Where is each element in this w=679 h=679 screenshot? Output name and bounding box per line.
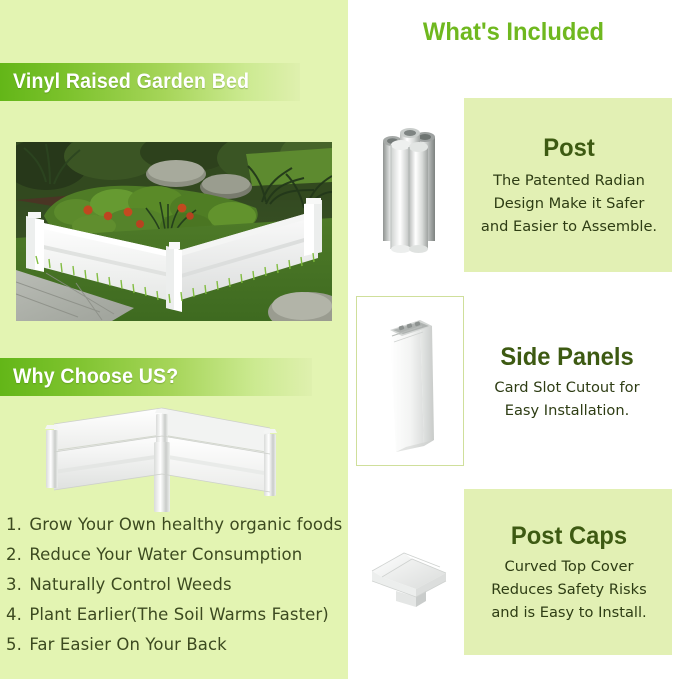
- bed-frame-illustration: [28, 402, 290, 514]
- garden-bed-photo-illustration: [16, 142, 332, 321]
- post-desc-line-1: The Patented Radian: [470, 169, 668, 192]
- hero-product-photo: [16, 142, 332, 321]
- post-card-body: Post The Patented Radian Design Make it …: [464, 98, 672, 272]
- empty-bed-frame-drawing: [28, 402, 290, 514]
- why-choose-us-banner: Why Choose US?: [0, 358, 312, 396]
- included-card-post: Post The Patented Radian Design Make it …: [356, 98, 672, 272]
- list-item: 1. Grow Your Own healthy organic foods: [6, 510, 348, 540]
- list-item-text: Naturally Control Weeds: [29, 575, 231, 594]
- why-choose-us-text: Why Choose US?: [0, 365, 178, 389]
- included-card-post-caps: Post Caps Curved Top Cover Reduces Safet…: [356, 489, 672, 655]
- left-panel: Vinyl Raised Garden Bed: [0, 0, 348, 679]
- page-title: What's Included: [356, 18, 670, 47]
- list-item-number: 3.: [6, 575, 22, 594]
- side-panels-card-body: Side Panels Card Slot Cutout for Easy In…: [464, 296, 672, 466]
- infographic-page: Vinyl Raised Garden Bed: [0, 0, 679, 679]
- side-panels-card-description: Card Slot Cutout for Easy Installation.: [466, 376, 668, 422]
- list-item-text: Plant Earlier(The Soil Warms Faster): [29, 605, 329, 624]
- product-title-text: Vinyl Raised Garden Bed: [0, 70, 249, 94]
- post-image-box: [356, 98, 464, 272]
- benefits-list: 1. Grow Your Own healthy organic foods 2…: [6, 510, 348, 660]
- post-caps-desc-line-3: and is Easy to Install.: [470, 601, 668, 624]
- list-item-text: Grow Your Own healthy organic foods: [29, 515, 342, 534]
- list-item: 2. Reduce Your Water Consumption: [6, 540, 348, 570]
- post-cap-image-box: [356, 489, 464, 655]
- post-caps-desc-line-1: Curved Top Cover: [470, 555, 668, 578]
- list-item-number: 2.: [6, 545, 22, 564]
- list-item: 3. Naturally Control Weeds: [6, 570, 348, 600]
- post-caps-desc-line-2: Reduces Safety Risks: [470, 578, 668, 601]
- list-item-number: 5.: [6, 635, 22, 654]
- post-desc-line-3: and Easier to Assemble.: [470, 215, 668, 238]
- list-item-number: 1.: [6, 515, 22, 534]
- post-caps-card-description: Curved Top Cover Reduces Safety Risks an…: [470, 555, 668, 624]
- list-item-number: 4.: [6, 605, 22, 624]
- post-card-description: The Patented Radian Design Make it Safer…: [470, 169, 668, 238]
- side-panels-desc-line-2: Easy Installation.: [466, 399, 668, 422]
- list-item: 5. Far Easier On Your Back: [6, 630, 348, 660]
- post-icon: [373, 115, 447, 255]
- side-panels-card-heading: Side Panels: [471, 343, 663, 372]
- list-item-text: Far Easier On Your Back: [29, 635, 227, 654]
- included-card-side-panels: Side Panels Card Slot Cutout for Easy In…: [356, 296, 672, 466]
- post-caps-card-body: Post Caps Curved Top Cover Reduces Safet…: [464, 489, 672, 655]
- right-panel: What's Included: [348, 0, 679, 679]
- list-item: 4. Plant Earlier(The Soil Warms Faster): [6, 600, 348, 630]
- list-item-text: Reduce Your Water Consumption: [29, 545, 302, 564]
- post-caps-card-heading: Post Caps: [475, 522, 663, 551]
- side-panel-image-box: [356, 296, 464, 466]
- post-cap-icon: [362, 527, 458, 617]
- post-card-heading: Post: [475, 134, 663, 163]
- post-desc-line-2: Design Make it Safer: [470, 192, 668, 215]
- product-title-banner: Vinyl Raised Garden Bed: [0, 63, 300, 101]
- side-panels-desc-line-1: Card Slot Cutout for: [466, 376, 668, 399]
- side-panel-icon: [372, 306, 448, 456]
